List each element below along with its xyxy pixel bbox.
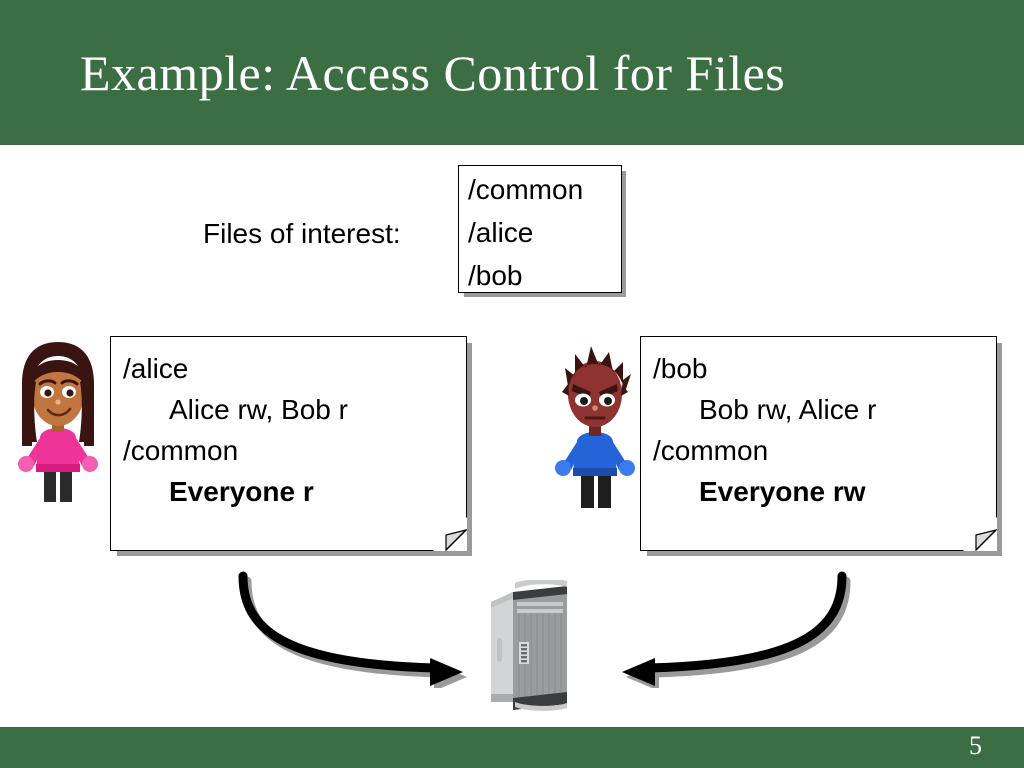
footer-bar (0, 727, 1024, 768)
permission-line-path: /bob (653, 355, 708, 383)
permission-card-alice: /alice Alice rw, Bob r /common Everyone … (110, 336, 467, 551)
permission-line-entry-bold: Everyone rw (699, 478, 866, 506)
file-server-icon (483, 580, 573, 712)
title-bar: Example: Access Control for Files (0, 0, 1024, 145)
files-of-interest-box: /common /alice /bob (458, 165, 622, 293)
page-fold-icon (433, 517, 467, 551)
file-list-item: /common (468, 176, 583, 204)
file-list-item: /alice (468, 219, 533, 247)
arrow-alice-to-server-icon (225, 558, 485, 688)
permission-line-path: /alice (123, 355, 188, 383)
page-title: Example: Access Control for Files (80, 38, 960, 108)
page-fold-icon (963, 517, 997, 551)
permission-line-entry-bold: Everyone r (169, 478, 314, 506)
permission-line-entry: Alice rw, Bob r (169, 396, 348, 424)
permission-card-bob: /bob Bob rw, Alice r /common Everyone rw (640, 336, 997, 551)
arrow-bob-to-server-icon (585, 558, 860, 688)
file-list-item: /bob (468, 262, 523, 290)
permission-line-entry: Bob rw, Alice r (699, 396, 876, 424)
avatar-alice (10, 338, 106, 506)
slide-canvas: Example: Access Control for Files Files … (0, 0, 1024, 768)
permission-line-path: /common (123, 437, 238, 465)
page-number: 5 (969, 731, 982, 761)
files-of-interest-label: Files of interest: (203, 218, 401, 250)
avatar-bob (545, 338, 645, 510)
permission-line-path: /common (653, 437, 768, 465)
